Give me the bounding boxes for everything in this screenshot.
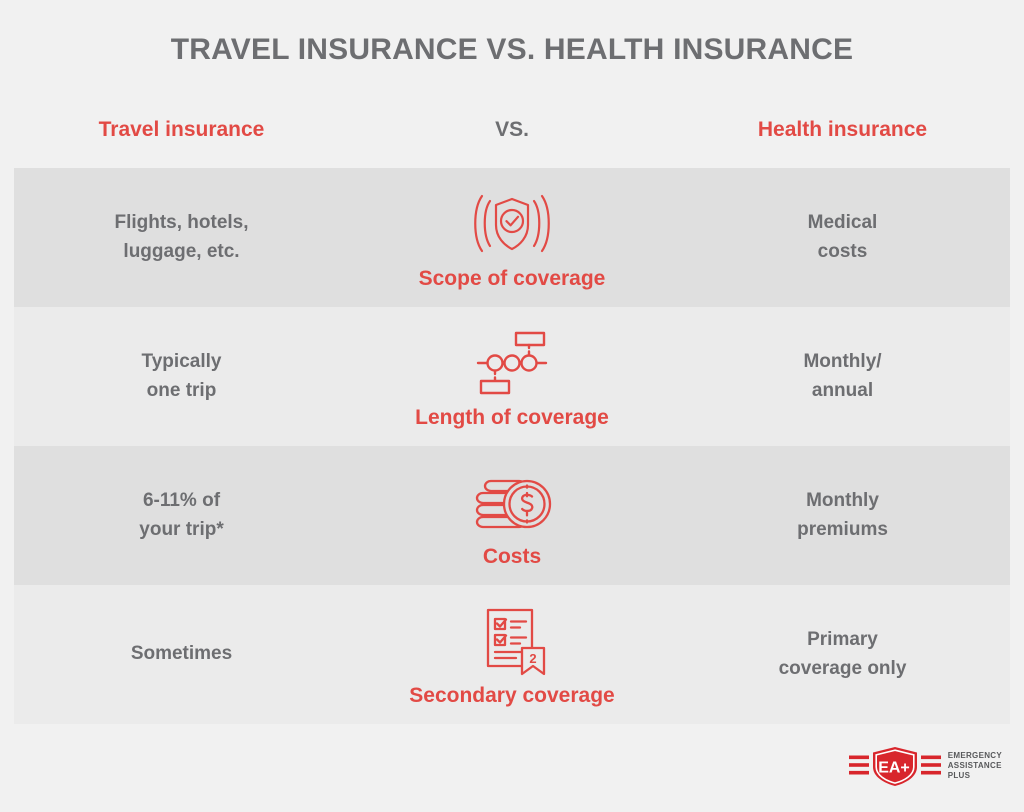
criterion-label: Length of coverage (415, 406, 609, 430)
health-value-line2: costs (818, 241, 868, 262)
criterion-cell: Scope of coverage (349, 168, 675, 307)
column-headers: Travel insurance VS. Health insurance (14, 118, 1010, 142)
health-value-cell: Monthly premiums (675, 446, 1010, 585)
comparison-rows: Flights, hotels, luggage, etc. (14, 168, 1010, 724)
travel-value-line2: luggage, etc. (123, 241, 239, 262)
svg-text:2: 2 (529, 651, 536, 666)
health-value-line1: Monthly (806, 490, 879, 511)
criterion-cell: Length of coverage (349, 307, 675, 446)
travel-value-cell: Typically one trip (14, 307, 349, 446)
health-value-line2: premiums (797, 519, 888, 540)
health-value-line2: coverage only (779, 658, 907, 679)
column-header-health: Health insurance (675, 118, 1010, 142)
travel-value-line1: Typically (142, 351, 222, 372)
health-value-cell: Monthly/ annual (675, 307, 1010, 446)
health-value-cell: Medical costs (675, 168, 1010, 307)
travel-value-line1: Flights, hotels, (114, 212, 248, 233)
coins-dollar-icon (464, 465, 560, 539)
travel-value-cell: Sometimes (14, 585, 349, 724)
travel-value-line2: your trip* (139, 519, 223, 540)
logo-mark-text: EA+ (878, 760, 910, 777)
checklist-ribbon-two-icon: 2 (464, 604, 560, 678)
timeline-nodes-icon (464, 326, 560, 400)
column-header-travel: Travel insurance (14, 118, 349, 142)
health-value-line2: annual (812, 380, 873, 401)
infographic-root: TRAVEL INSURANCE VS. HEALTH INSURANCE Tr… (0, 0, 1024, 812)
criterion-label: Scope of coverage (419, 267, 606, 291)
travel-value-line1: Sometimes (131, 643, 232, 664)
ea-plus-shield-icon: EA+ (849, 745, 941, 787)
health-value-line1: Medical (808, 212, 878, 233)
travel-value-cell: 6-11% of your trip* (14, 446, 349, 585)
brand-logo: EA+ EMERGENCY ASSISTANCE PLUS (849, 745, 1002, 787)
comparison-row: Typically one trip (14, 307, 1010, 446)
logo-wordmark: EMERGENCY ASSISTANCE PLUS (948, 751, 1002, 782)
health-value-cell: Primary coverage only (675, 585, 1010, 724)
comparison-row: Sometimes (14, 585, 1010, 724)
shield-check-signal-icon (464, 187, 560, 261)
criterion-label: Secondary coverage (409, 684, 614, 708)
travel-value-cell: Flights, hotels, luggage, etc. (14, 168, 349, 307)
criterion-label: Costs (483, 545, 541, 569)
column-header-vs: VS. (349, 118, 675, 142)
travel-value-line1: 6-11% of (143, 490, 220, 511)
page-title: TRAVEL INSURANCE VS. HEALTH INSURANCE (0, 33, 1024, 66)
health-value-line1: Monthly/ (803, 351, 881, 372)
criterion-cell: 2 Secondary coverage (349, 585, 675, 724)
health-value-line1: Primary (807, 629, 878, 650)
comparison-row: 6-11% of your trip* (14, 446, 1010, 585)
comparison-row: Flights, hotels, luggage, etc. (14, 168, 1010, 307)
criterion-cell: Costs (349, 446, 675, 585)
travel-value-line2: one trip (147, 380, 217, 401)
